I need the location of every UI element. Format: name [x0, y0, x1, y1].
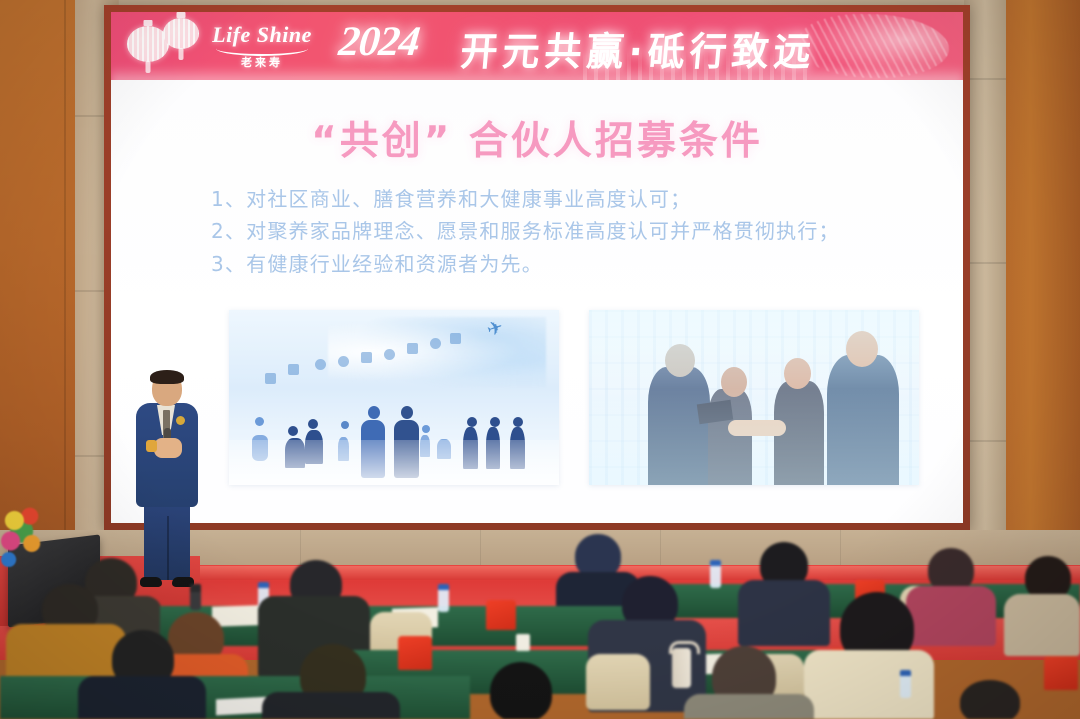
bullet-item-1: 1、对社区商业、膳食营养和大健康事业高度认可； — [211, 183, 840, 215]
attendee-head — [490, 662, 552, 719]
projection-screen-frame: Life Shine 老来寿 2024 开元共赢·砥行致远 “共创” 合伙人招募… — [104, 5, 970, 530]
event-banner: Life Shine 老来寿 2024 开元共赢·砥行致远 — [111, 12, 963, 80]
banner-slogan-text: 开元共赢·砥行致远 — [459, 20, 819, 77]
tea-cup — [516, 634, 530, 651]
water-bottle — [438, 584, 449, 612]
attendee-body — [262, 692, 400, 719]
slide-title: “共创” 合伙人招募条件 — [111, 110, 963, 166]
slide-bullet-list: 1、对社区商业、膳食营养和大健康事业高度认可； 2、对聚养家品牌理念、愿景和服务… — [211, 183, 840, 280]
presenter-hair — [150, 370, 184, 384]
bullet-item-2: 2、对聚养家品牌理念、愿景和服务标准高度认可并严格贯彻执行； — [211, 215, 840, 247]
presenter-wrist-accessory — [146, 440, 157, 452]
projection-screen: Life Shine 老来寿 2024 开元共赢·砥行致远 “共创” 合伙人招募… — [111, 12, 963, 523]
red-gift-bag — [398, 636, 432, 670]
water-bottle — [190, 584, 201, 610]
floor-reflection — [229, 440, 559, 486]
presenter-hands — [154, 438, 182, 458]
red-gift-bag — [1044, 656, 1078, 690]
slide-image-handshake — [589, 310, 919, 485]
attendee-body — [78, 676, 206, 719]
water-bottle — [710, 560, 721, 588]
red-gift-bag — [486, 600, 516, 630]
life-shine-logo: Life Shine 老来寿 — [207, 24, 317, 69]
right-column — [964, 0, 1006, 600]
slide-content: “共创” 合伙人招募条件 1、对社区商业、膳食营养和大健康事业高度认可； 2、对… — [111, 80, 963, 523]
dragon-icon — [799, 14, 949, 78]
slide-image-row: ✈ — [229, 310, 919, 485]
slide-image-business-silhouettes: ✈ — [229, 310, 559, 485]
audience-area — [0, 528, 1080, 719]
chair — [586, 654, 650, 710]
water-bottle — [900, 670, 911, 698]
logo-chinese-text: 老来寿 — [207, 58, 317, 69]
thermos-flask — [672, 648, 691, 688]
attendee-body — [738, 580, 830, 646]
city-skyline-graphic — [583, 50, 813, 80]
attendee-body — [906, 586, 996, 646]
attendee-body — [684, 694, 814, 719]
lantern-icon — [163, 18, 199, 49]
logo-swoosh — [216, 47, 308, 56]
attendee-body — [1004, 594, 1080, 656]
conference-photo-scene: Life Shine 老来寿 2024 开元共赢·砥行致远 “共创” 合伙人招募… — [0, 0, 1080, 719]
bullet-item-3: 3、有健康行业经验和资源者为先。 — [211, 248, 840, 280]
photo-highlight-wash — [589, 310, 919, 485]
logo-english-text: Life Shine — [207, 24, 317, 46]
attendee-head — [960, 680, 1020, 719]
presenter-lapel-badge — [176, 416, 185, 425]
banner-year-text: 2024 — [336, 18, 421, 66]
attendee-body — [804, 650, 934, 719]
